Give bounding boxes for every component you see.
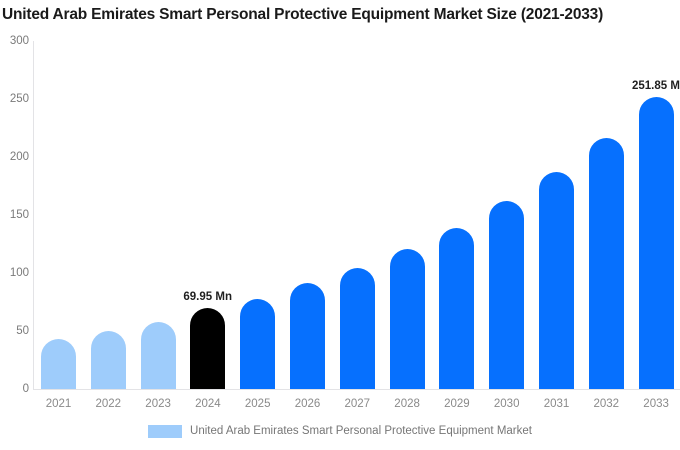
bar-value-label: 69.95 Mn [183, 291, 232, 304]
x-axis-tick-label: 2024 [185, 398, 231, 411]
y-axis-tick-label: 50 [3, 325, 29, 337]
bar[interactable] [240, 299, 275, 389]
bar[interactable] [390, 249, 425, 389]
y-axis-line [33, 41, 34, 390]
bar-chart: United Arab Emirates Smart Personal Prot… [0, 0, 680, 450]
bar[interactable] [190, 308, 225, 389]
legend-swatch [148, 425, 182, 438]
bar[interactable] [290, 283, 325, 389]
x-axis-line [33, 389, 680, 390]
x-axis-tick-label: 2022 [85, 398, 131, 411]
bar[interactable] [439, 228, 474, 389]
y-axis-tick-label: 100 [3, 267, 29, 279]
bar[interactable] [489, 201, 524, 389]
bar-value-label: 251.85 Mn [632, 80, 680, 93]
y-axis-tick-label: 200 [3, 151, 29, 163]
x-axis-tick-label: 2032 [583, 398, 629, 411]
x-axis-tick-label: 2026 [285, 398, 331, 411]
y-axis-tick-label: 300 [3, 35, 29, 47]
y-axis-tick-label: 250 [3, 93, 29, 105]
bar[interactable] [340, 268, 375, 389]
legend-label: United Arab Emirates Smart Personal Prot… [190, 424, 532, 438]
bar[interactable] [41, 339, 76, 389]
x-axis-tick-label: 2023 [135, 398, 181, 411]
chart-title: United Arab Emirates Smart Personal Prot… [2, 6, 680, 24]
x-axis-tick-label: 2025 [235, 398, 281, 411]
bar[interactable] [589, 138, 624, 389]
x-axis-tick-label: 2031 [534, 398, 580, 411]
y-axis-tick-label: 150 [3, 209, 29, 221]
chart-legend: United Arab Emirates Smart Personal Prot… [0, 424, 680, 438]
bar[interactable] [539, 172, 574, 389]
y-axis-tick-label: 0 [3, 383, 29, 395]
x-axis-tick-label: 2027 [334, 398, 380, 411]
x-axis-tick-label: 2029 [434, 398, 480, 411]
bar[interactable] [91, 331, 126, 389]
bar[interactable] [639, 97, 674, 389]
x-axis-tick-label: 2033 [633, 398, 679, 411]
x-axis-tick-label: 2021 [36, 398, 82, 411]
bar[interactable] [141, 322, 176, 389]
y-axis: 050100150200250300 [0, 0, 29, 450]
x-axis-tick-label: 2030 [484, 398, 530, 411]
x-axis-tick-label: 2028 [384, 398, 430, 411]
